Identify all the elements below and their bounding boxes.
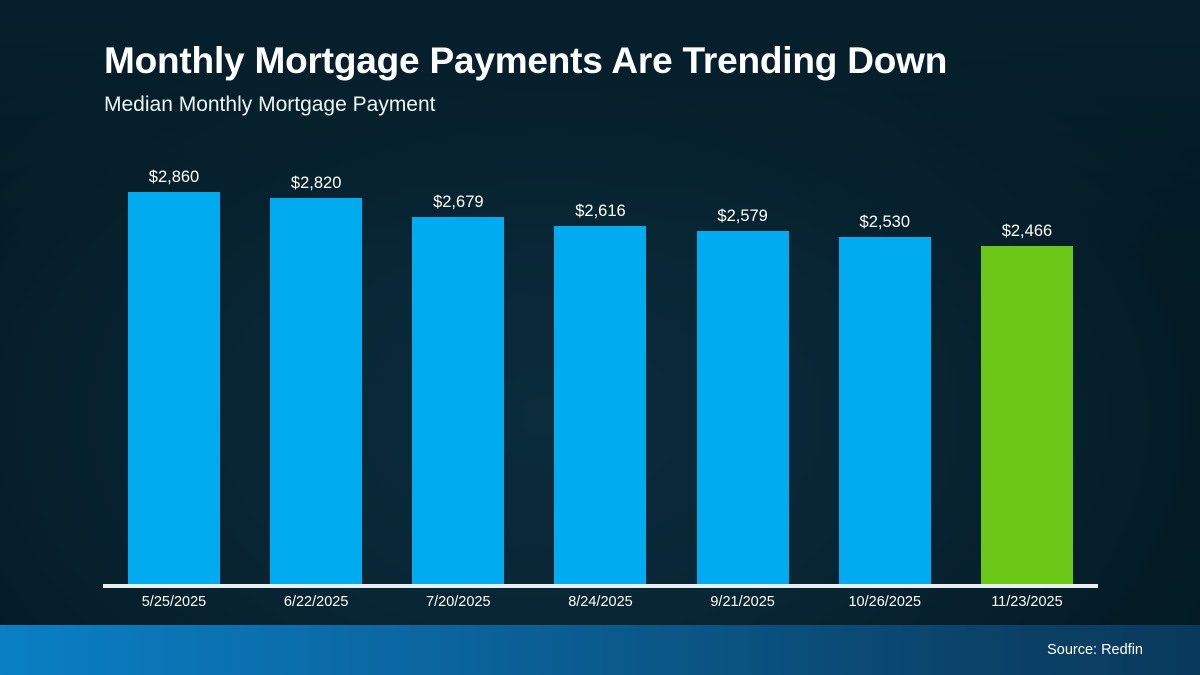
chart-plot-area: $2,860$2,820$2,679$2,616$2,579$2,530$2,4… bbox=[103, 150, 1098, 586]
x-axis-line bbox=[103, 584, 1098, 588]
bar-value-label: $2,530 bbox=[860, 214, 910, 231]
bar-rect[interactable] bbox=[554, 226, 646, 586]
x-axis-tick-label: 10/26/2025 bbox=[814, 592, 956, 614]
bar-rect[interactable] bbox=[839, 237, 931, 586]
x-axis-tick-label: 7/20/2025 bbox=[387, 592, 529, 614]
bar-value-label: $2,679 bbox=[433, 194, 483, 211]
bar-group[interactable]: $2,466 bbox=[956, 150, 1098, 586]
footer-band: Source: Redfin bbox=[0, 625, 1200, 675]
bar-series: $2,860$2,820$2,679$2,616$2,579$2,530$2,4… bbox=[103, 150, 1098, 586]
slide-canvas: Monthly Mortgage Payments Are Trending D… bbox=[0, 0, 1200, 675]
bar-group[interactable]: $2,530 bbox=[814, 150, 956, 586]
bar-value-label: $2,579 bbox=[717, 208, 767, 225]
bar-value-label: $2,860 bbox=[149, 169, 199, 186]
bar-rect-highlighted[interactable] bbox=[981, 246, 1073, 586]
bar-group[interactable]: $2,579 bbox=[672, 150, 814, 586]
x-axis-tick-label: 9/21/2025 bbox=[672, 592, 814, 614]
bar-group[interactable]: $2,616 bbox=[529, 150, 671, 586]
chart-header: Monthly Mortgage Payments Are Trending D… bbox=[104, 40, 1104, 117]
bar-rect[interactable] bbox=[412, 217, 504, 586]
bar-value-label: $2,820 bbox=[291, 175, 341, 192]
bar-value-label: $2,466 bbox=[1002, 223, 1052, 240]
x-axis-tick-label: 5/25/2025 bbox=[103, 592, 245, 614]
bar-group[interactable]: $2,860 bbox=[103, 150, 245, 586]
x-axis-tick-labels: 5/25/20256/22/20257/20/20258/24/20259/21… bbox=[103, 592, 1098, 614]
chart-subtitle: Median Monthly Mortgage Payment bbox=[104, 93, 1104, 116]
bar-rect[interactable] bbox=[270, 198, 362, 586]
x-axis-tick-label: 11/23/2025 bbox=[956, 592, 1098, 614]
x-axis-tick-label: 6/22/2025 bbox=[245, 592, 387, 614]
bar-group[interactable]: $2,679 bbox=[387, 150, 529, 586]
x-axis-tick-label: 8/24/2025 bbox=[529, 592, 671, 614]
bar-rect[interactable] bbox=[128, 192, 220, 586]
bar-group[interactable]: $2,820 bbox=[245, 150, 387, 586]
chart-title: Monthly Mortgage Payments Are Trending D… bbox=[104, 40, 1104, 81]
source-attribution: Source: Redfin bbox=[1047, 642, 1143, 658]
bar-value-label: $2,616 bbox=[575, 203, 625, 220]
bar-rect[interactable] bbox=[697, 231, 789, 586]
